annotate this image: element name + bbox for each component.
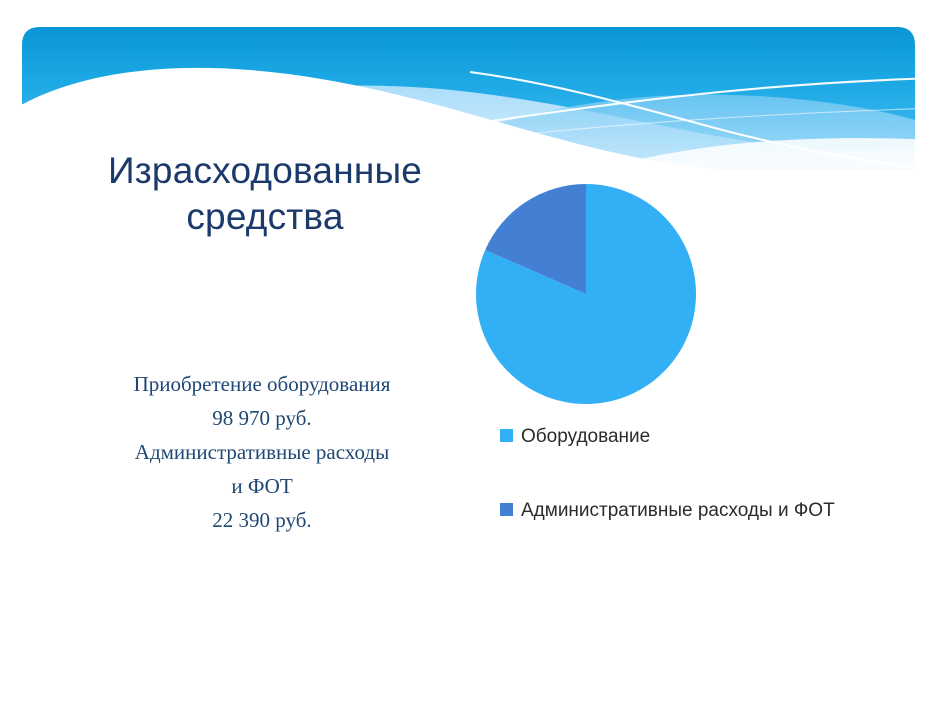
slide-title: Израсходованные средства	[40, 148, 490, 240]
slide-header-banner	[0, 0, 938, 170]
slide-body-text: Приобретение оборудования 98 970 руб. Ад…	[52, 367, 472, 537]
legend-swatch-equipment	[500, 429, 513, 442]
legend-label-admin: Административные расходы и ФОТ	[521, 498, 835, 525]
presentation-slide: Израсходованные средства Приобретение об…	[0, 0, 938, 703]
legend-item-equipment: Оборудование	[500, 424, 890, 451]
pie-chart: Оборудование Административные расходы и …	[455, 172, 895, 572]
body-line-equipment-amount: 98 970 руб.	[52, 401, 472, 435]
pie-chart-legend: Оборудование Административные расходы и …	[500, 424, 890, 572]
pie-chart-graphic	[455, 172, 895, 412]
body-line-admin-amount: 22 390 руб.	[52, 503, 472, 537]
header-wave-graphic	[0, 0, 938, 170]
body-line-admin-label-cont: и ФОТ	[52, 469, 472, 503]
body-line-admin-label: Административные расходы	[52, 435, 472, 469]
legend-item-admin: Административные расходы и ФОТ	[500, 498, 890, 525]
body-line-equipment-label: Приобретение оборудования	[52, 367, 472, 401]
legend-label-equipment: Оборудование	[521, 424, 650, 451]
legend-swatch-admin	[500, 503, 513, 516]
